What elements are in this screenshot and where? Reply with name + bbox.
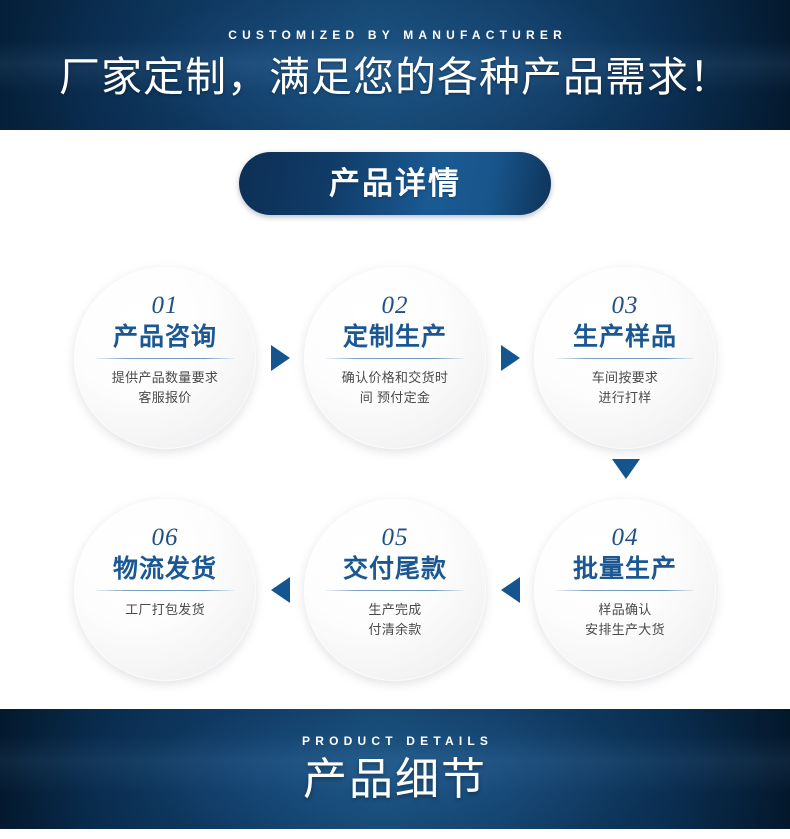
step-number: 03 [612, 293, 639, 318]
arrow-down-icon [612, 459, 640, 479]
step-description-line-1: 样品确认 [545, 600, 705, 620]
step-description-line-1: 工厂打包发货 [85, 600, 245, 620]
step-description-line-1: 车间按要求 [545, 368, 705, 388]
bottom-banner-content: PRODUCT DETAILS 产品细节 [0, 709, 790, 829]
process-flow-row-bottom: 06 物流发货 工厂打包发货 05 交付尾款 生产完成 付清余款 [0, 492, 790, 688]
step-number: 01 [152, 293, 179, 318]
arrow-slot-4 [486, 499, 534, 681]
step-description-line-2: 付清余款 [315, 620, 475, 640]
step-description-line-2: 间 预付定金 [315, 388, 475, 408]
step-number: 04 [612, 525, 639, 550]
step-title: 批量生产 [573, 557, 677, 582]
section-title-label: 产品详情 [329, 168, 461, 199]
step-description: 车间按要求 进行打样 [545, 368, 705, 408]
bottom-banner-headline-chinese: 产品细节 [303, 757, 487, 803]
step-description-line-2: 安排生产大货 [545, 620, 705, 640]
top-banner-eyebrow-english: CUSTOMIZED BY MANUFACTURER [223, 29, 567, 41]
step-title: 产品咨询 [113, 325, 217, 350]
step-title: 物流发货 [113, 557, 217, 582]
step-divider [556, 590, 694, 591]
process-step-04: 04 批量生产 样品确认 安排生产大货 [534, 499, 716, 681]
step-description-line-1: 生产完成 [315, 600, 475, 620]
step-title: 交付尾款 [343, 557, 447, 582]
arrow-slot-1 [256, 267, 304, 449]
section-title-pill: 产品详情 [239, 152, 551, 215]
step-number: 02 [382, 293, 409, 318]
bottom-banner: PRODUCT DETAILS 产品细节 [0, 709, 790, 829]
top-banner-content: CUSTOMIZED BY MANUFACTURER 厂家定制，满足您的各种产品… [0, 0, 790, 130]
arrow-left-icon [501, 577, 520, 603]
process-flow-row-top: 01 产品咨询 提供产品数量要求 客服报价 02 定制生产 确认价格和交货时 间… [0, 260, 790, 456]
step-number: 05 [382, 525, 409, 550]
section-title-wrapper: 产品详情 [0, 152, 790, 215]
top-banner: CUSTOMIZED BY MANUFACTURER 厂家定制，满足您的各种产品… [0, 0, 790, 130]
process-step-01: 01 产品咨询 提供产品数量要求 客服报价 [74, 267, 256, 449]
arrow-left-icon [271, 577, 290, 603]
step-divider [556, 358, 694, 359]
arrow-right-icon [501, 345, 520, 371]
step-description-line-1: 确认价格和交货时 [315, 368, 475, 388]
arrow-right-icon [271, 345, 290, 371]
step-description: 样品确认 安排生产大货 [545, 600, 705, 640]
process-step-06: 06 物流发货 工厂打包发货 [74, 499, 256, 681]
step-number: 06 [152, 525, 179, 550]
process-flow: 01 产品咨询 提供产品数量要求 客服报价 02 定制生产 确认价格和交货时 间… [0, 252, 790, 692]
step-title: 定制生产 [343, 325, 447, 350]
step-divider [96, 358, 234, 359]
process-step-03: 03 生产样品 车间按要求 进行打样 [534, 267, 716, 449]
process-step-05: 05 交付尾款 生产完成 付清余款 [304, 499, 486, 681]
step-description-line-2: 进行打样 [545, 388, 705, 408]
step-divider [326, 590, 464, 591]
step-description: 确认价格和交货时 间 预付定金 [315, 368, 475, 408]
step-description: 生产完成 付清余款 [315, 600, 475, 640]
step-description-line-1: 提供产品数量要求 [85, 368, 245, 388]
arrow-slot-2 [486, 267, 534, 449]
step-divider [326, 358, 464, 359]
process-step-02: 02 定制生产 确认价格和交货时 间 预付定金 [304, 267, 486, 449]
step-description: 工厂打包发货 [85, 600, 245, 620]
product-details-page: CUSTOMIZED BY MANUFACTURER 厂家定制，满足您的各种产品… [0, 0, 790, 839]
step-divider [96, 590, 234, 591]
step-title: 生产样品 [573, 325, 677, 350]
step-description-line-2: 客服报价 [85, 388, 245, 408]
top-banner-headline-chinese: 厂家定制，满足您的各种产品需求！ [59, 55, 731, 100]
bottom-banner-eyebrow-english: PRODUCT DETAILS [297, 735, 493, 747]
arrow-slot-5 [256, 499, 304, 681]
step-description: 提供产品数量要求 客服报价 [85, 368, 245, 408]
arrow-slot-3 [0, 450, 790, 488]
